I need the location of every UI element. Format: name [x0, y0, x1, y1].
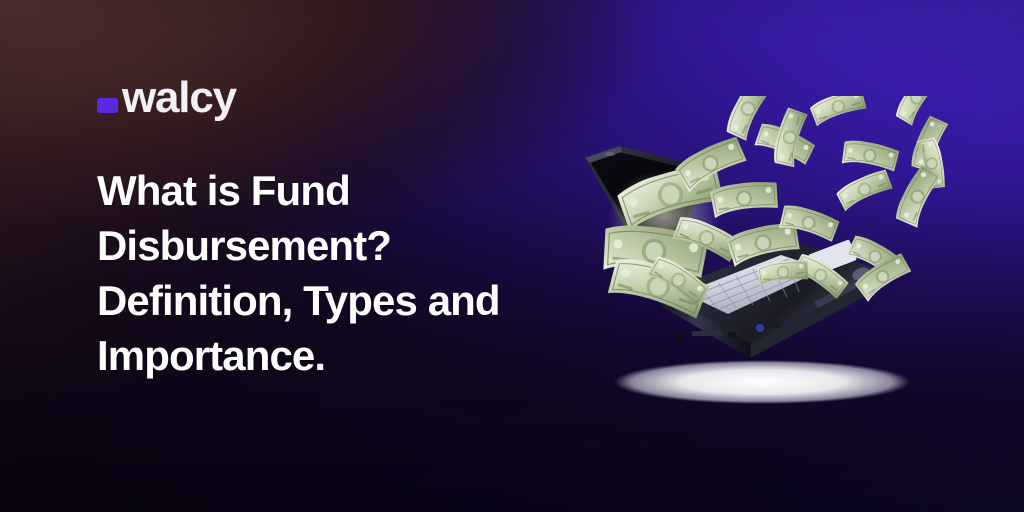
laptop-money-graphic	[556, 96, 1024, 426]
brand-logo[interactable]: walcy	[97, 62, 597, 118]
logo-dot-icon	[97, 98, 118, 113]
floor-reflection	[614, 360, 910, 404]
page-title: What is Fund Disbursement? Definition, T…	[97, 163, 577, 383]
bill-note	[808, 96, 868, 127]
bill-note	[892, 163, 943, 229]
headline-line-3: Definition, Types and	[97, 277, 500, 324]
headline-line-4: Importance.	[97, 332, 325, 379]
banner-root: walcy What is Fund Disbursement? Definit…	[0, 0, 1024, 512]
bill-note	[841, 138, 900, 173]
logo-wordmark: walcy	[122, 78, 236, 118]
text-column: walcy What is Fund Disbursement? Definit…	[97, 62, 597, 383]
hero-illustration	[556, 96, 1024, 426]
bill-note	[709, 178, 780, 218]
headline-line-2: Disbursement?	[97, 222, 391, 269]
bill-note	[834, 167, 894, 212]
headline-line-1: What is Fund	[97, 167, 350, 214]
